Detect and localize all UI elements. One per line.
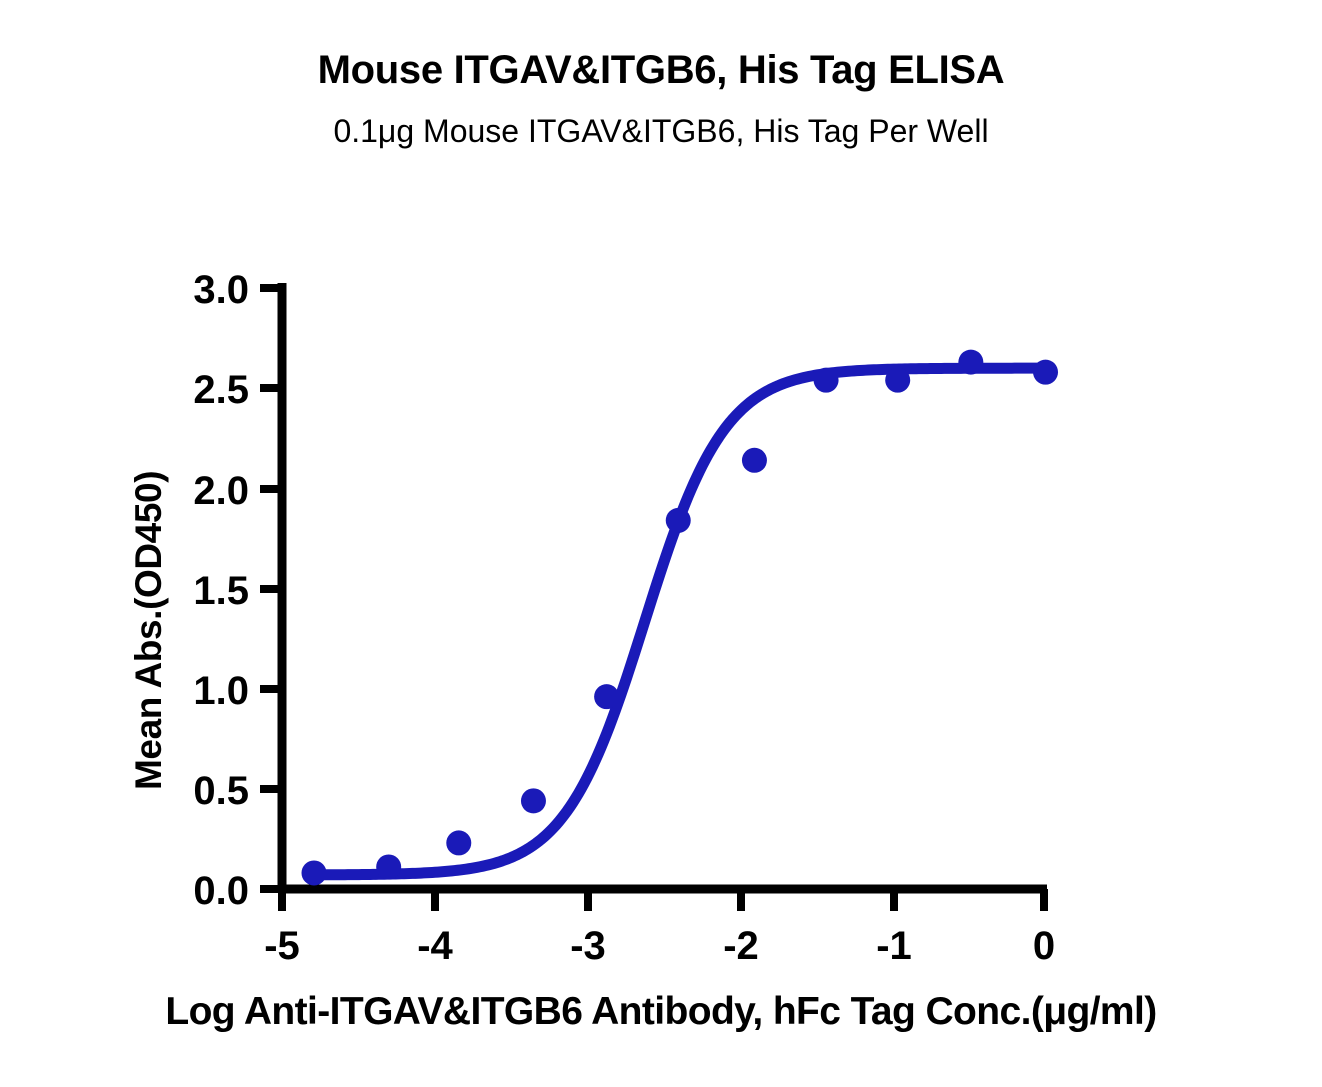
x-tick-label--5: -5 xyxy=(264,924,300,968)
x-tick-label--3: -3 xyxy=(570,924,606,968)
data-point xyxy=(1033,360,1058,385)
data-point xyxy=(885,368,910,393)
x-axis-label: Log Anti-ITGAV&ITGB6 Antibody, hFc Tag C… xyxy=(0,990,1322,1034)
data-point xyxy=(958,350,983,375)
plot-area: 3.0 2.5 2.0 1.5 1.0 0.5 0.0 -5 -4 -3 -2 … xyxy=(0,0,1322,1087)
data-point xyxy=(302,860,327,885)
data-point xyxy=(742,448,767,473)
x-tick-label--2: -2 xyxy=(723,924,759,968)
data-point xyxy=(376,854,401,879)
data-point-group xyxy=(302,350,1059,886)
y-tick-label-3.0: 3.0 xyxy=(193,268,249,312)
data-point xyxy=(594,684,619,709)
y-tick-label-2.5: 2.5 xyxy=(193,368,249,412)
y-tick-label-2.0: 2.0 xyxy=(193,469,249,513)
y-axis-label: Mean Abs.(OD450) xyxy=(128,230,184,790)
data-point xyxy=(666,508,691,533)
y-tick-label-1.5: 1.5 xyxy=(193,569,249,613)
fit-curve-line xyxy=(314,368,1046,875)
y-tick-label-0.5: 0.5 xyxy=(193,769,249,813)
data-point xyxy=(521,788,546,813)
data-point xyxy=(814,368,839,393)
x-tick-label--1: -1 xyxy=(876,924,912,968)
y-tick-label-1.0: 1.0 xyxy=(193,669,249,713)
x-tick-label--4: -4 xyxy=(417,924,453,968)
x-tick-label-0: 0 xyxy=(1033,924,1055,968)
y-tick-label-0.0: 0.0 xyxy=(193,869,249,913)
elisa-chart-figure: Mouse ITGAV&ITGB6, His Tag ELISA 0.1μg M… xyxy=(0,0,1322,1087)
data-point xyxy=(446,830,471,855)
